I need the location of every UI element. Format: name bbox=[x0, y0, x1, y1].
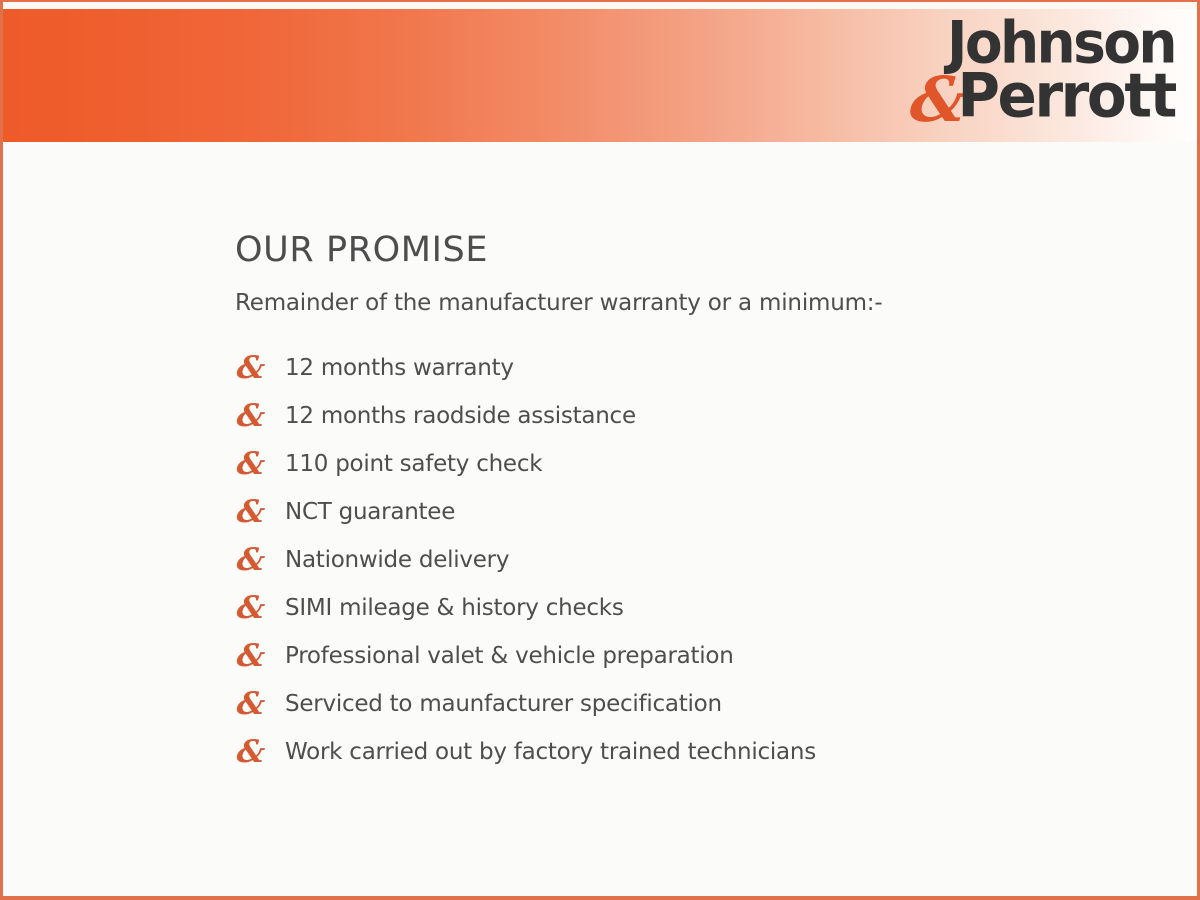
logo-second-line: & Perrott bbox=[905, 71, 1175, 124]
list-item: & Nationwide delivery bbox=[235, 536, 1155, 584]
ampersand-bullet-icon: & bbox=[234, 401, 287, 432]
promise-poster: Johnson & Perrott OUR PROMISE Remainder … bbox=[0, 0, 1200, 900]
brand-logo: Johnson & Perrott bbox=[905, 14, 1175, 142]
list-item: & Professional valet & vehicle preparati… bbox=[235, 632, 1155, 680]
list-item: & 110 point safety check bbox=[235, 440, 1155, 488]
list-item-label: 12 months raodside assistance bbox=[285, 403, 636, 429]
page-title: OUR PROMISE bbox=[235, 230, 1155, 270]
list-item: & 12 months raodside assistance bbox=[235, 392, 1155, 440]
logo-text-perrott: Perrott bbox=[957, 68, 1175, 124]
list-item: & 12 months warranty bbox=[235, 344, 1155, 392]
list-item-label: NCT guarantee bbox=[285, 499, 455, 525]
list-item: & NCT guarantee bbox=[235, 488, 1155, 536]
promise-subtitle: Remainder of the manufacturer warranty o… bbox=[235, 290, 1155, 316]
ampersand-bullet-icon: & bbox=[234, 449, 287, 480]
list-item-label: Professional valet & vehicle preparation bbox=[285, 643, 734, 669]
list-item: & SIMI mileage & history checks bbox=[235, 584, 1155, 632]
ampersand-bullet-icon: & bbox=[234, 353, 287, 384]
list-item-label: SIMI mileage & history checks bbox=[285, 595, 624, 621]
ampersand-bullet-icon: & bbox=[234, 593, 287, 624]
promise-list: & 12 months warranty & 12 months raodsid… bbox=[235, 344, 1155, 776]
list-item-label: Serviced to maunfacturer specification bbox=[285, 691, 722, 717]
list-item-label: 110 point safety check bbox=[285, 451, 542, 477]
ampersand-bullet-icon: & bbox=[234, 545, 287, 576]
promise-content: OUR PROMISE Remainder of the manufacture… bbox=[235, 230, 1155, 776]
list-item: & Serviced to maunfacturer specification bbox=[235, 680, 1155, 728]
ampersand-bullet-icon: & bbox=[234, 689, 287, 720]
list-item-label: Nationwide delivery bbox=[285, 547, 509, 573]
list-item-label: Work carried out by factory trained tech… bbox=[285, 739, 816, 765]
list-item-label: 12 months warranty bbox=[285, 355, 514, 381]
ampersand-bullet-icon: & bbox=[234, 497, 287, 528]
ampersand-bullet-icon: & bbox=[234, 641, 287, 672]
ampersand-bullet-icon: & bbox=[234, 737, 287, 768]
list-item: & Work carried out by factory trained te… bbox=[235, 728, 1155, 776]
